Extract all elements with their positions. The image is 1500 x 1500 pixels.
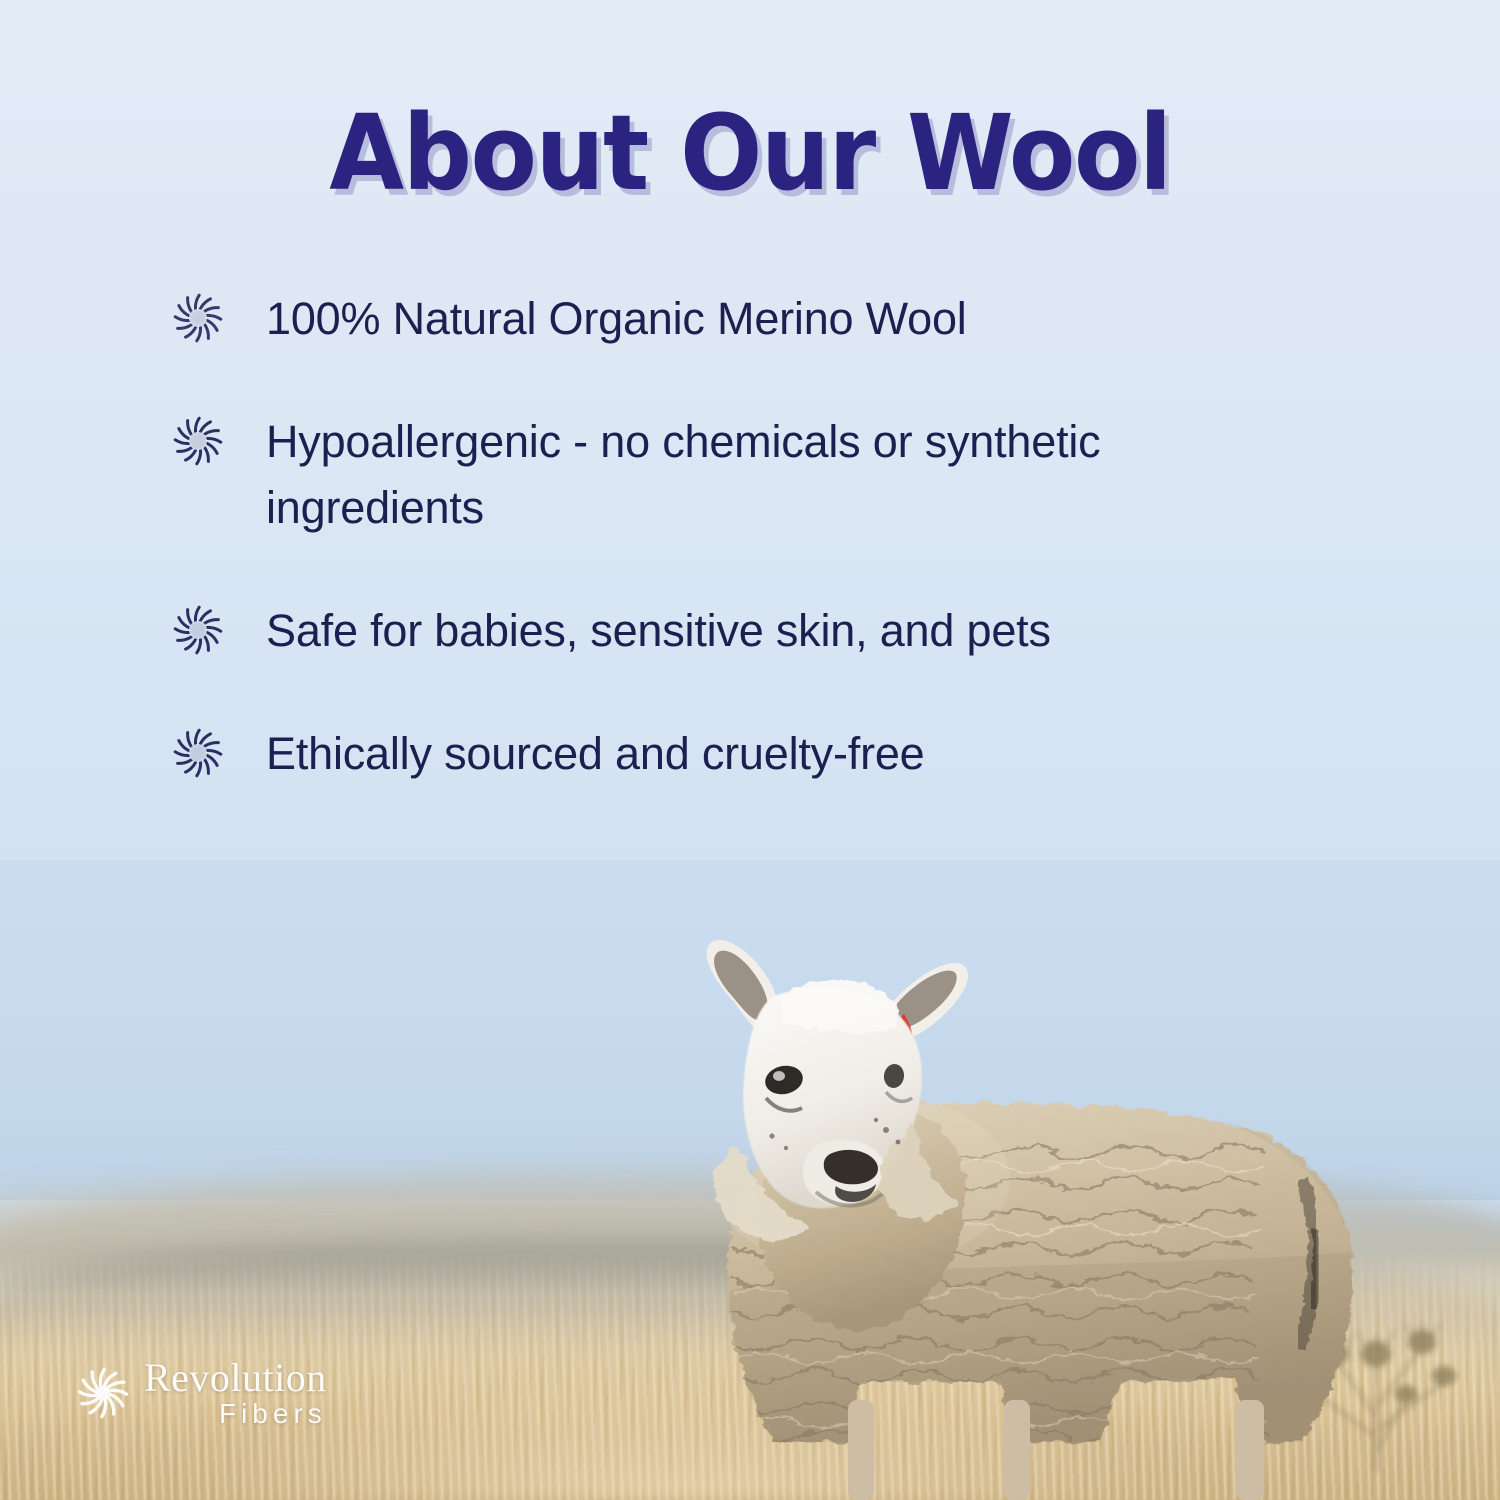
swirl-fiber-icon <box>168 411 228 471</box>
sheep-illustration <box>560 930 1380 1500</box>
list-item: 100% Natural Organic Merino Wool <box>168 286 1380 351</box>
brand-wordmark: Revolution Fibers <box>144 1358 327 1428</box>
brand-name-secondary: Fibers <box>219 1400 327 1428</box>
swirl-fiber-icon <box>168 723 228 783</box>
brand-logo: Revolution Fibers <box>72 1358 327 1428</box>
swirl-fiber-icon <box>168 288 228 348</box>
poster-canvas: About Our Wool <box>0 0 1500 1500</box>
swirl-fiber-icon <box>168 600 228 660</box>
list-item: Ethically sourced and cruelty-free <box>168 721 1380 786</box>
swirl-fiber-icon <box>72 1362 134 1424</box>
list-item-label: Safe for babies, sensitive skin, and pet… <box>266 598 1051 663</box>
list-item: Safe for babies, sensitive skin, and pet… <box>168 598 1380 663</box>
list-item-label: 100% Natural Organic Merino Wool <box>266 286 967 351</box>
list-item: Hypoallergenic - no chemicals or synthet… <box>168 409 1380 540</box>
page-title: About Our Wool <box>53 92 1448 214</box>
list-item-label: Hypoallergenic - no chemicals or synthet… <box>266 409 1296 540</box>
feature-list: 100% Natural Organic Merino Wool <box>168 286 1380 786</box>
brand-name-primary: Revolution <box>144 1358 327 1398</box>
list-item-label: Ethically sourced and cruelty-free <box>266 721 925 786</box>
